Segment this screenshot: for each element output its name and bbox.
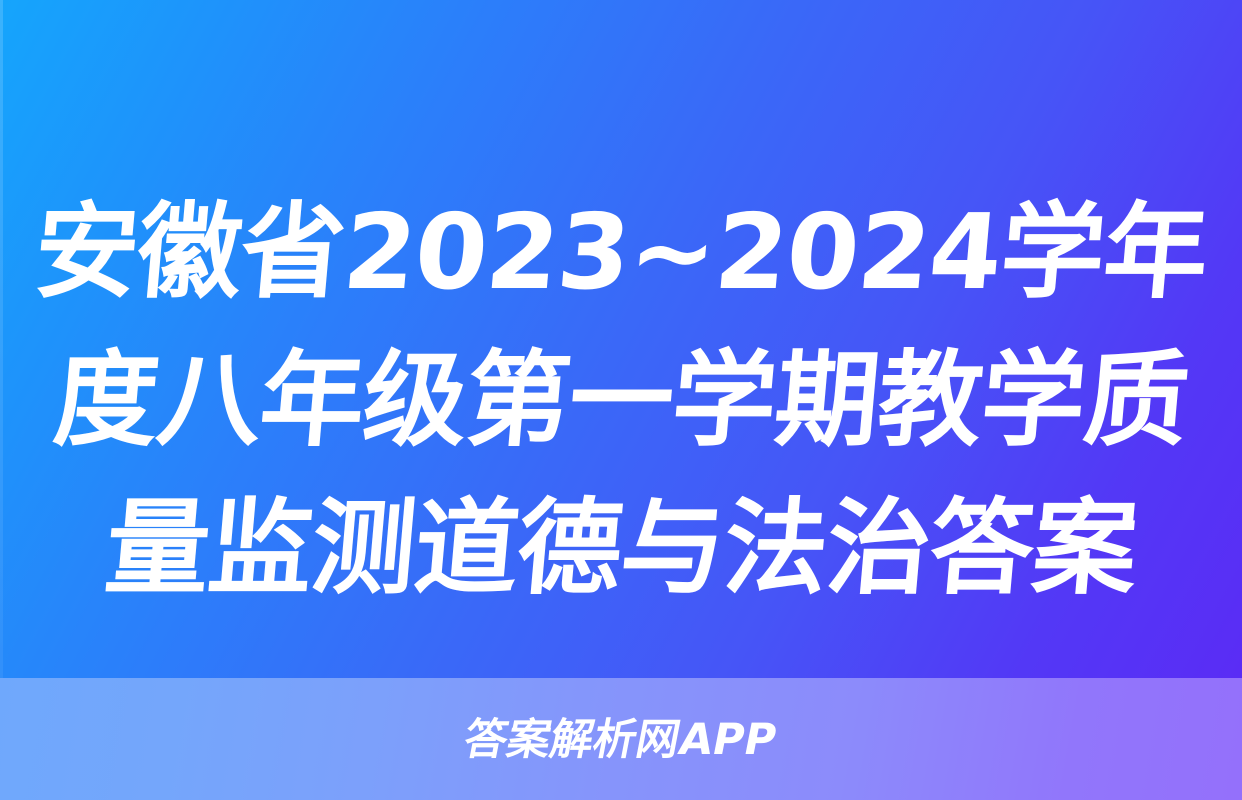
title-line-1: 安徽省2023~2024学年 <box>0 178 1242 326</box>
title-line-2: 度八年级第一学期教学质 <box>0 326 1242 474</box>
page-title: 安徽省2023~2024学年 度八年级第一学期教学质 量监测道德与法治答案 <box>0 178 1242 622</box>
cover-card: 安徽省2023~2024学年 度八年级第一学期教学质 量监测道德与法治答案 答案… <box>0 0 1242 800</box>
app-watermark: 答案解析网APP <box>0 705 1242 767</box>
title-line-3: 量监测道德与法治答案 <box>0 474 1242 622</box>
